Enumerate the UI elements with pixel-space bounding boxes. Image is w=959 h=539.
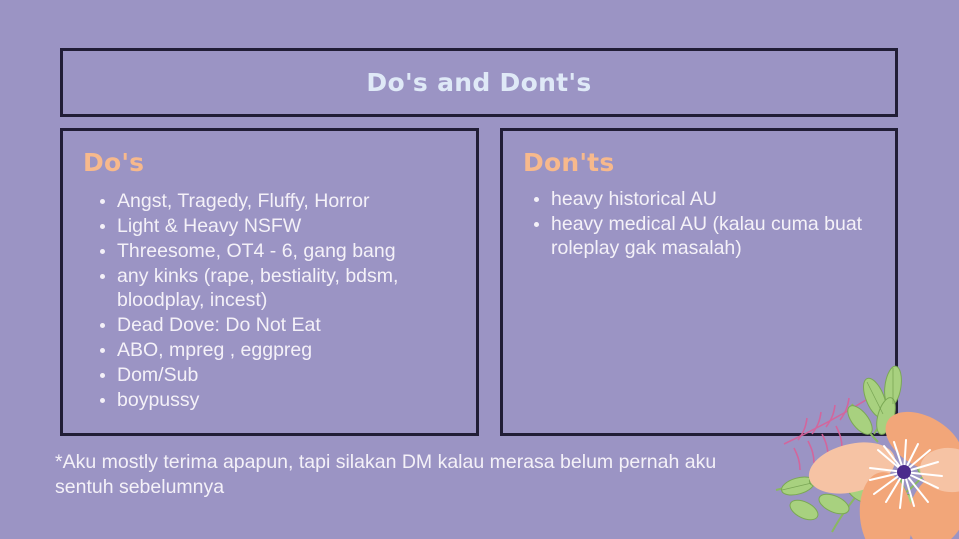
page-title: Do's and Dont's xyxy=(366,68,591,97)
list-item: any kinks (rape, bestiality, bdsm, blood… xyxy=(117,265,466,313)
dos-list: Angst, Tragedy, Fluffy, Horror Light & H… xyxy=(63,190,466,413)
slide-canvas: Do's and Dont's Do's Angst, Tragedy, Flu… xyxy=(0,0,959,539)
title-box: Do's and Dont's xyxy=(60,48,898,117)
list-item: Angst, Tragedy, Fluffy, Horror xyxy=(117,190,466,214)
list-item: Dom/Sub xyxy=(117,364,466,388)
list-item: Dead Dove: Do Not Eat xyxy=(117,314,466,338)
dos-panel: Do's Angst, Tragedy, Fluffy, Horror Ligh… xyxy=(60,128,479,436)
donts-panel: Don'ts heavy historical AU heavy medical… xyxy=(500,128,898,436)
list-item: heavy medical AU (kalau cuma buat rolepl… xyxy=(551,213,885,261)
donts-heading: Don'ts xyxy=(523,148,895,177)
list-item: Light & Heavy NSFW xyxy=(117,215,466,239)
list-item: boypussy xyxy=(117,389,466,413)
list-item: heavy historical AU xyxy=(551,188,885,212)
footer-note: *Aku mostly terima apapun, tapi silakan … xyxy=(55,450,755,500)
donts-list: heavy historical AU heavy medical AU (ka… xyxy=(503,188,885,261)
dos-heading: Do's xyxy=(83,148,476,177)
list-item: Threesome, OT4 - 6, gang bang xyxy=(117,240,466,264)
list-item: ABO, mpreg , eggpreg xyxy=(117,339,466,363)
